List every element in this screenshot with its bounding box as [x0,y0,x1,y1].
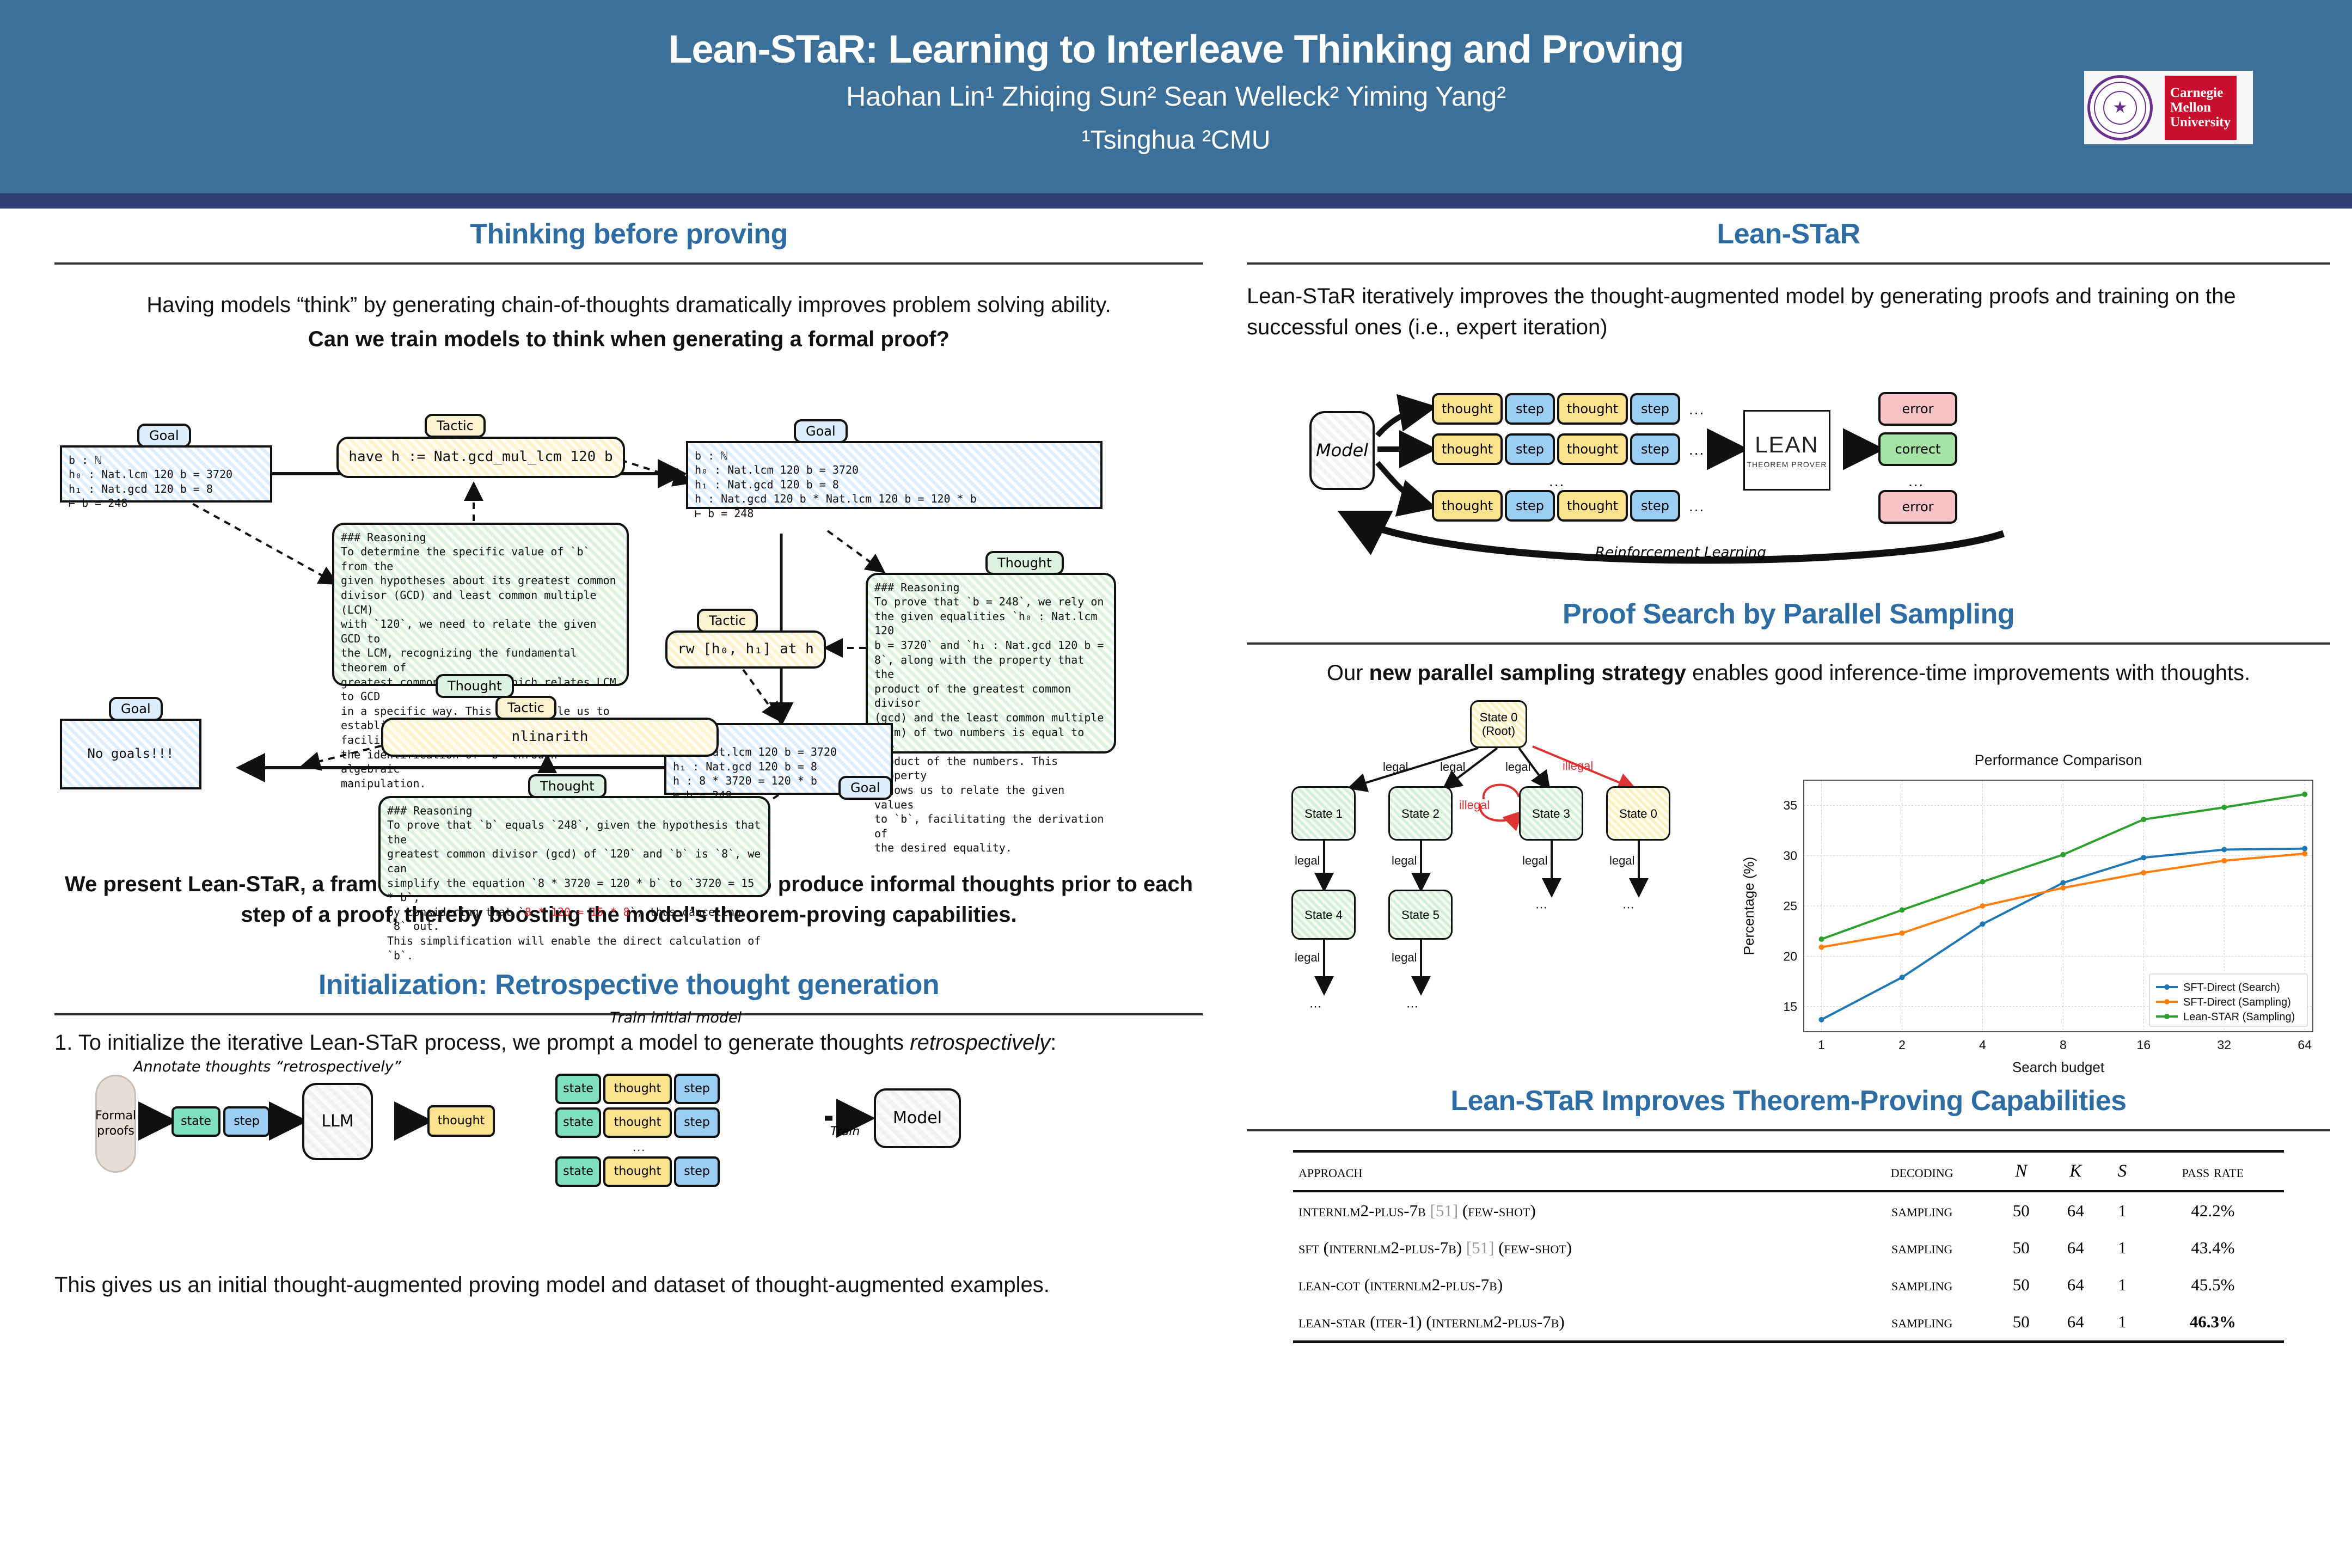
chart-data-point [1980,879,1985,885]
divider [1247,1129,2330,1131]
thought-box-output: thought [427,1105,495,1137]
step-box-row3: step [674,1156,720,1187]
star-icon: ★ [2113,100,2128,116]
tsinghua-seal-icon: ★ [2087,75,2153,140]
proof-search-body: Our new parallel sampling strategy enabl… [1247,658,2330,689]
error-label: error [1902,401,1933,416]
table-row: Lean-STaR (Iter-1) (InternLM2-plus-7b)Sa… [1293,1303,2284,1342]
step-box-row2: step [674,1107,720,1138]
proof-search-body-pre: Our [1327,661,1369,685]
chart-data-point [1819,936,1824,942]
lean-logo-text: LEAN [1755,432,1819,458]
llm-label: LLM [321,1112,353,1131]
row3-ellipsis: ... [1689,498,1705,515]
formal-proofs-label: Formal proofs [95,1108,136,1138]
chart-xtick-label: 2 [1898,1038,1906,1052]
chart-legend-label: Lean-STAR (Sampling) [2183,1011,2295,1023]
logo-group: ★ Carnegie Mellon University [2084,71,2253,144]
goal-tag-1: Goal [137,424,191,448]
step-box-input: step [223,1106,270,1137]
chart-data-point [2302,851,2307,856]
citation-ref[interactable]: [51] [1466,1238,1494,1257]
thought-label: thought [1442,442,1493,457]
step-label: step [684,1165,710,1178]
divider [1247,262,2330,265]
proof-search-body-bold: new parallel sampling strategy [1369,661,1686,685]
chart-legend-marker [2164,1014,2170,1019]
chart-legend-label: SFT-Direct (Sampling) [2183,996,2291,1008]
state-label: state [563,1165,593,1178]
tree-node-state-3: State 3 [1519,786,1583,841]
tree-node-state-3-label: State 3 [1532,807,1570,820]
goal-node-4-text: No goals!!! [88,745,174,763]
intro-line-1: Having models “think” by generating chai… [54,290,1203,321]
step-box-row1: step [674,1074,720,1104]
step-box-r1c1: step [1505,393,1555,425]
column-header-s: S [2103,1151,2142,1192]
table-row: InternLM2-plus-7b [51] (Few-Shot)Samplin… [1293,1191,2284,1229]
section-heading-improves-capabilities: Lean-STaR Improves Theorem-Proving Capab… [1247,1085,2330,1117]
error-label: error [1902,499,1933,514]
state-box-input: state [171,1106,220,1137]
chart-data-point [1819,945,1824,950]
chart-legend-marker [2164,984,2170,990]
cmu-line-1: Carnegie [2170,85,2237,100]
step-box-r1c2: step [1630,393,1680,425]
model-box: Model [1309,411,1375,490]
performance-comparison-chart: Performance Comparison152025303512481632… [1739,746,2325,1084]
divider [54,262,1203,265]
edge-label-legal-1: legal [1383,760,1408,774]
divider [1247,642,2330,645]
step-label: step [1516,401,1544,416]
step-label: step [1516,442,1544,457]
model-label: Model [1316,440,1368,461]
chart-data-point [1819,1017,1824,1022]
tree-node-state-2-label: State 2 [1401,807,1440,820]
chart-data-point [1980,922,1985,927]
tactic-tag-1: Tactic [425,414,486,438]
chart-data-point [2141,817,2146,822]
right-column: Lean-STaR Lean-STaR iteratively improves… [1247,218,2330,1343]
initialization-intro: 1. To initialize the iterative Lean-STaR… [54,1027,1203,1058]
tactic-node-1: have h := Nat.gcd_mul_lcm 120 b [336,437,625,478]
cell-n: 50 [1994,1191,2048,1229]
row2-ellipsis: ... [1689,441,1705,458]
header-accent-strip [0,193,2352,209]
tree-dots-state5: ⋯ [1406,1000,1419,1014]
chart-ytick-label: 25 [1783,899,1797,913]
chart-data-point [2302,846,2307,852]
tactic-tag-3: Tactic [495,696,556,720]
tree-node-root-label: State 0 (Root) [1480,710,1518,738]
section-heading-thinking-before-proving: Thinking before proving [54,218,1203,250]
tree-dots-state4: ⋯ [1309,1000,1322,1014]
tree-node-state-4-label: State 4 [1304,908,1343,922]
goal-tag-2: Goal [794,419,848,443]
thought-label: thought [1442,401,1493,416]
row1-ellipsis: ... [1689,401,1705,418]
error-box-bottom: error [1878,490,1957,524]
cell-pass-rate: 46.3% [2142,1303,2284,1342]
carnegie-mellon-logo: Carnegie Mellon University [2165,76,2237,140]
chart-ytick-label: 35 [1783,799,1797,813]
column-header-pass-rate: Pass rate [2142,1151,2284,1192]
cell-pass-rate: 42.2% [2142,1191,2284,1229]
search-and-chart-row: State 0 (Root) legal legal legal illegal… [1247,695,2330,1076]
goal-tag-3: Goal [838,776,892,800]
cell-s: 1 [2103,1229,2142,1266]
thought-box-r1c1: thought [1432,393,1503,425]
chart-data-point [1899,930,1904,936]
thought-label: thought [1442,498,1493,513]
initialization-intro-plain: 1. To initialize the iterative Lean-STaR… [54,1031,910,1055]
chart-data-point [2302,792,2307,797]
tactic-node-2: rw [h₀, h₁] at h [665,630,826,669]
chart-data-point [2060,852,2066,857]
lean-theorem-prover-box: LEAN THEOREM PROVER [1743,410,1830,491]
tactic-node-3: nlinarith [381,718,719,757]
section-heading-initialization: Initialization: Retrospective thought ge… [54,969,1203,1001]
lean-star-pipeline-diagram: Model thought step thought step ... thou… [1247,354,2330,577]
cell-decoding: Sampling [1850,1266,1994,1303]
step-label: step [1641,442,1669,457]
thought-label: thought [614,1116,661,1129]
tactic-node-1-text: have h := Nat.gcd_mul_lcm 120 b [348,448,612,467]
column-header-decoding: Decoding [1850,1151,1994,1192]
step-label: step [1641,401,1669,416]
thought-box-r3c1: thought [1432,490,1503,522]
tactic-tag-2: Tactic [697,609,758,633]
proof-trace-diagram: b : ℕ h₀ : Nat.lcm 120 b = 3720 h₁ : Nat… [54,365,1203,866]
reinforcement-learning-label: Reinforcement Learning [1595,544,1766,561]
step-box-r3c2: step [1630,490,1680,522]
column-header-approach: Approach [1293,1151,1850,1192]
rows-vertical-ellipsis: ... [1549,473,1565,490]
cell-n: 50 [1994,1229,2048,1266]
state-label: state [563,1116,593,1129]
tree-connectors [1258,695,1748,1065]
chart-data-point [2141,855,2146,861]
chart-data-point [2060,885,2066,891]
thought-box-row1: thought [603,1074,672,1104]
chart-xtick-label: 1 [1818,1038,1825,1052]
chart-ytick-label: 20 [1783,950,1797,964]
chart-title: Performance Comparison [1975,752,2142,768]
cmu-line-2: Mellon [2170,100,2237,115]
chart-xtick-label: 4 [1979,1038,1986,1052]
cell-k: 64 [2048,1229,2103,1266]
intro-question: Can we train models to think when genera… [54,324,1203,355]
cell-s: 1 [2103,1191,2142,1229]
step-box-r3c1: step [1505,490,1555,522]
tree-node-state-0b-label: State 0 [1619,807,1657,820]
chart-data-point [1899,975,1904,981]
column-header-k: K [2048,1151,2103,1192]
goal-node-2: b : ℕ h₀ : Nat.lcm 120 b = 3720 h₁ : Nat… [686,441,1102,509]
thought-node-2-text: ### Reasoning To prove that `b = 248`, w… [874,581,1110,855]
llm-box: LLM [302,1083,373,1160]
edge-label-illegal-1: illegal [1563,759,1593,773]
step-label: step [684,1082,710,1095]
goal-tag-4: Goal [109,697,163,721]
goal-node-4: No goals!!! [60,719,201,789]
chart-data-point [2221,847,2227,853]
chart-ylabel: Percentage (%) [1741,857,1757,955]
edge-label-legal-6: legal [1522,854,1547,868]
chart-data-point [2141,870,2146,875]
chart-data-point [2221,805,2227,810]
thought-node-3-highlight: 8 * 120 = 15 * 8 [525,905,630,918]
chart-data-point [2060,880,2066,886]
edge-label-legal-2: legal [1440,760,1465,774]
thought-node-1: ### Reasoning To determine the specific … [332,523,629,686]
chart-svg: Performance Comparison152025303512481632… [1739,746,2325,1084]
results-table: Approach Decoding N K S Pass rate Intern… [1293,1150,2284,1343]
cell-n: 50 [1994,1303,2048,1342]
chart-legend-marker [2164,999,2170,1004]
chart-legend-label: SFT-Direct (Search) [2183,982,2280,994]
cell-n: 50 [1994,1266,2048,1303]
edge-label-legal-3: legal [1505,760,1530,774]
table-row: Lean-CoT (InternLM2-plus-7b)Sampling5064… [1293,1266,2284,1303]
tree-node-state-1: State 1 [1291,786,1356,841]
thought-box-r2c2: thought [1557,433,1628,465]
cell-approach: Lean-CoT (InternLM2-plus-7b) [1293,1266,1850,1303]
tree-dots-state0b: ⋯ [1622,901,1636,915]
rows-ellipsis: ... [633,1140,646,1154]
proof-search-tree: State 0 (Root) legal legal legal illegal… [1258,695,1748,1065]
results-table-body: InternLM2-plus-7b [51] (Few-Shot)Samplin… [1293,1191,2284,1342]
state-box-row1: state [555,1074,601,1104]
outcome-ellipsis: ... [1908,473,1924,490]
thought-box-r2c1: thought [1432,433,1503,465]
table-row: SFT (InternLM2-plus-7b) [51] (Few-Shot)S… [1293,1229,2284,1266]
chart-ytick-label: 30 [1783,849,1797,863]
step-label: step [1516,498,1544,513]
tree-node-state-1-label: State 1 [1304,807,1343,820]
cell-pass-rate: 43.4% [2142,1229,2284,1266]
thought-label: thought [1567,442,1618,457]
chart-ytick-label: 15 [1783,1000,1797,1014]
tree-node-state-5-label: State 5 [1401,908,1440,922]
thought-tag-2: Thought [985,551,1064,575]
edge-label-legal-8: legal [1295,951,1320,965]
error-box-top: error [1878,392,1957,426]
chart-xtick-label: 32 [2217,1038,2231,1052]
thought-box-row3: thought [603,1156,672,1187]
state-box-row2: state [555,1107,601,1138]
thought-label: thought [614,1165,661,1178]
proof-search-body-post: enables good inference-time improvements… [1686,661,2250,685]
initialization-intro-tail: : [1050,1031,1056,1055]
chart-data-point [2221,858,2227,863]
tactic-node-2-text: rw [h₀, h₁] at h [677,640,813,659]
edge-label-illegal-2: illegal [1459,798,1490,812]
thought-box-r3c2: thought [1557,490,1628,522]
cell-k: 64 [2048,1266,2103,1303]
cell-approach: Lean-STaR (Iter-1) (InternLM2-plus-7b) [1293,1303,1850,1342]
step-label: step [684,1116,710,1129]
cell-s: 1 [2103,1266,2142,1303]
initialization-intro-italic: retrospectively [910,1031,1050,1055]
tree-dots-state3: ⋯ [1535,901,1548,915]
retrospective-pipeline-diagram: Annotate thoughts “retrospectively” Trai… [54,1064,1203,1238]
formal-proofs-box: Formal proofs [95,1075,136,1173]
thought-box-row2: thought [603,1107,672,1138]
poster-authors: Haohan Lin¹ Zhiqing Sun² Sean Welleck² Y… [0,81,2352,112]
thought-label: thought [438,1114,485,1128]
cmu-line-3: University [2170,115,2237,130]
model-box-initial: Model [874,1088,961,1148]
thought-box-r1c2: thought [1557,393,1628,425]
tree-node-state-2: State 2 [1388,786,1453,841]
cell-approach: InternLM2-plus-7b [51] (Few-Shot) [1293,1191,1850,1229]
chart-data-point [1899,908,1904,913]
edge-label-legal-5: legal [1392,854,1417,868]
lean-star-body: Lean-STaR iteratively improves the thoug… [1247,281,2330,343]
model-label: Model [893,1108,942,1128]
edge-label-legal-7: legal [1609,854,1634,868]
chart-xtick-label: 64 [2298,1038,2312,1052]
tree-node-root: State 0 (Root) [1470,700,1527,748]
section-heading-lean-star: Lean-STaR [1247,218,2330,250]
cell-decoding: Sampling [1850,1191,1994,1229]
correct-label: correct [1895,442,1940,457]
tree-node-state-5: State 5 [1388,890,1453,940]
initialization-closing: This gives us an initial thought-augment… [54,1270,1203,1301]
cell-approach: SFT (InternLM2-plus-7b) [51] (Few-Shot) [1293,1229,1850,1266]
step-box-r2c2: step [1630,433,1680,465]
chart-xtick-label: 16 [2137,1038,2151,1052]
cell-k: 64 [2048,1191,2103,1229]
chart-series-line-1 [1822,854,2305,947]
edge-label-legal-4: legal [1295,854,1320,868]
thought-tag-3: Thought [528,774,607,798]
correct-box: correct [1878,432,1957,466]
results-table-head: Approach Decoding N K S Pass rate [1293,1151,2284,1192]
thought-label: thought [614,1082,661,1095]
edge-label-legal-9: legal [1392,951,1417,965]
lean-logo-subtitle: THEOREM PROVER [1747,460,1827,469]
train-arrow-label: Train [830,1125,860,1138]
tree-node-state-0b: State 0 [1606,786,1670,841]
thought-label: thought [1567,498,1618,513]
caption-annotate-thoughts: Annotate thoughts “retrospectively” [133,1058,401,1075]
tactic-node-3-text: nlinarith [512,727,589,746]
goal-node-1: b : ℕ h₀ : Nat.lcm 120 b = 3720 h₁ : Nat… [60,445,272,503]
thought-node-3: ### Reasoning To prove that `b` equals `… [378,796,770,897]
poster-affiliations: ¹Tsinghua ²CMU [0,125,2352,155]
thought-tag-1: Thought [436,674,514,698]
step-box-r2c1: step [1505,433,1555,465]
chart-xtick-label: 8 [2060,1038,2067,1052]
column-header-n: N [1994,1151,2048,1192]
cell-pass-rate: 45.5% [2142,1266,2284,1303]
tree-node-state-4: State 4 [1291,890,1356,940]
state-box-row3: state [555,1156,601,1187]
thought-label: thought [1567,401,1618,416]
thought-node-2: ### Reasoning To prove that `b = 248`, w… [866,573,1116,754]
chart-data-point [1980,903,1985,909]
step-label: step [1641,498,1669,513]
left-column: Thinking before proving Having models “t… [54,218,1203,1301]
poster-title: Lean-STaR: Learning to Interleave Thinki… [0,27,2352,72]
goal-node-1-text: b : ℕ h₀ : Nat.lcm 120 b = 3720 h₁ : Nat… [69,454,232,510]
citation-ref[interactable]: [51] [1430,1201,1459,1220]
state-label: state [181,1114,211,1128]
step-label: step [234,1114,260,1128]
cell-decoding: Sampling [1850,1303,1994,1342]
cell-k: 64 [2048,1303,2103,1342]
cell-s: 1 [2103,1303,2142,1342]
state-label: state [563,1082,593,1095]
section-heading-proof-search: Proof Search by Parallel Sampling [1247,598,2330,630]
cell-decoding: Sampling [1850,1229,1994,1266]
table-header-row: Approach Decoding N K S Pass rate [1293,1151,2284,1192]
caption-train-initial-model: Train initial model [610,1009,742,1026]
chart-xlabel: Search budget [2012,1059,2105,1075]
